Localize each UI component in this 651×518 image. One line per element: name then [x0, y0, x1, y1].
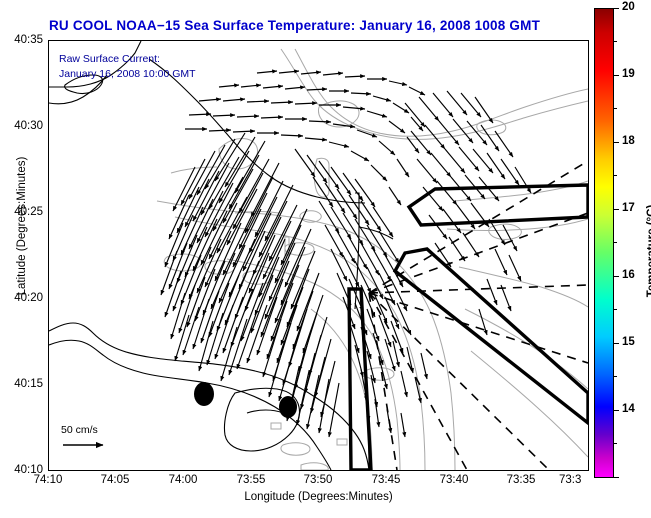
- figure-root: RU COOL NOAA−15 Sea Surface Temperature:…: [0, 0, 651, 518]
- x-tick-label: 74:05: [85, 474, 145, 486]
- annotation-line-2: January 16, 2008 10:00 GMT: [59, 68, 196, 80]
- radar-station-west: [194, 382, 214, 406]
- annotation-line-1: Raw Surface Current:: [59, 53, 160, 65]
- figure-title: RU COOL NOAA−15 Sea Surface Temperature:…: [0, 18, 589, 33]
- y-tick-label: 40:30: [0, 120, 43, 132]
- y-tick-label: 40:10: [0, 464, 43, 476]
- velocity-scale-legend: 50 cm/s: [61, 424, 121, 461]
- shipping-lanes: [349, 185, 588, 470]
- colorbar-tick-label: 14: [622, 403, 635, 415]
- velocity-scale-label: 50 cm/s: [61, 424, 121, 436]
- colorbar-tick-label: 18: [622, 135, 635, 147]
- map-plot-area[interactable]: Raw Surface Current: January 16, 2008 10…: [48, 40, 589, 471]
- velocity-scale-arrow-icon: [61, 436, 121, 456]
- temperature-colorbar[interactable]: [594, 8, 614, 478]
- colorbar-tick-label: 20: [622, 1, 635, 13]
- colorbar-tick-label: 15: [622, 336, 635, 348]
- x-axis-title: Longitude (Degrees:Minutes): [48, 491, 589, 503]
- x-tick-label: 73:45: [356, 474, 416, 486]
- x-tick-label: 73:55: [221, 474, 281, 486]
- coastline: [49, 41, 393, 470]
- x-tick-label: 73:35: [491, 474, 551, 486]
- colorbar-title: Temperature (°C): [646, 171, 651, 331]
- x-tick-label: 74:00: [153, 474, 213, 486]
- y-tick-label: 40:15: [0, 378, 43, 390]
- x-tick-label: 73:50: [288, 474, 348, 486]
- colorbar-tick-label: 17: [622, 202, 635, 214]
- station-markers: [194, 382, 297, 418]
- y-tick-label: 40:35: [0, 34, 43, 46]
- colorbar-tick-label: 19: [622, 68, 635, 80]
- y-axis-title: Latitude (Degrees:Minutes): [16, 146, 28, 306]
- x-tick-label: 73:40: [424, 474, 484, 486]
- colorbar-tick-label: 16: [622, 269, 635, 281]
- map-canvas: [49, 41, 588, 470]
